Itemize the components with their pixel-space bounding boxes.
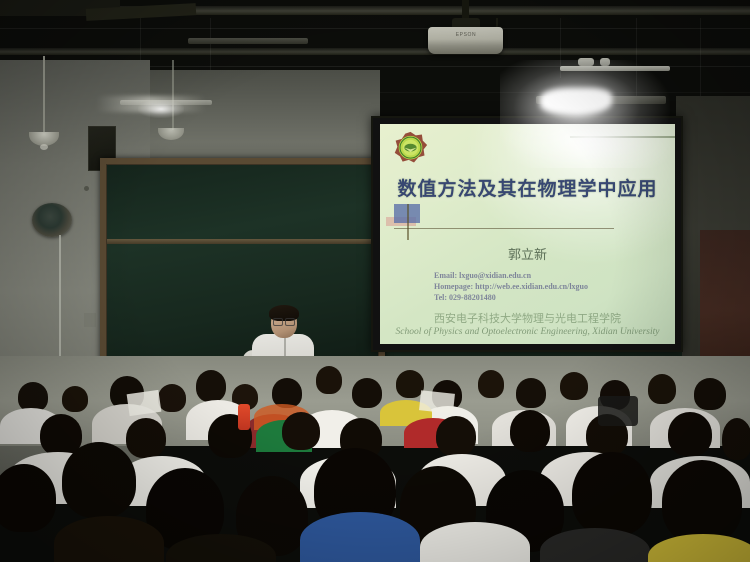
ceiling-grid-line (636, 18, 637, 98)
blackboard (100, 158, 385, 370)
fluorescent-tube (188, 38, 308, 44)
ceiling-light-secondary (138, 100, 184, 118)
wall-fan (32, 203, 72, 237)
slide-homepage: Homepage: http://web.ee.xidian.edu.cn/lx… (434, 281, 588, 292)
fluorescent-tube (560, 66, 670, 71)
wall-outlet (84, 313, 96, 327)
audience-head (478, 370, 504, 398)
ceiling-grid-line (0, 28, 750, 29)
xidian-university-emblem-icon (393, 131, 428, 166)
blackboard-divider (107, 239, 378, 244)
slide-top-rule (570, 136, 675, 138)
audience (0, 356, 750, 562)
audience-head (510, 410, 550, 452)
fan-pole (59, 235, 61, 363)
paper-sheet (127, 390, 162, 416)
paper-sheet (419, 390, 455, 413)
screen-light-glare (500, 124, 675, 168)
audience-head (126, 418, 166, 458)
ceiling-beam (0, 48, 750, 55)
audience-head (648, 374, 676, 404)
projector-brand-label: EPSON (446, 32, 486, 38)
tube-bracket (578, 58, 594, 66)
slide-title: 数值方法及其在物理学中应用 (380, 174, 675, 201)
lecture-hall-photo: EPSON (0, 0, 750, 562)
lamp-bulb (40, 144, 48, 150)
audience-head (352, 378, 382, 408)
audience-head (62, 442, 136, 518)
bag (598, 396, 638, 426)
audience-head (516, 378, 546, 408)
ceiling-grid-line (700, 18, 701, 108)
audience-head (694, 378, 726, 410)
audience-head (196, 370, 226, 402)
audience-head (0, 464, 56, 532)
audience-torso (300, 512, 420, 562)
slide-decoration-line (407, 204, 409, 240)
tube-bracket (600, 58, 610, 66)
audience-torso (54, 516, 164, 562)
audience-head (282, 412, 320, 450)
projection-screen: 数值方法及其在物理学中应用 郭立新 Email: lxguo@xidian.ed… (371, 116, 683, 352)
blackboard-surface (106, 164, 379, 363)
audience-torso (648, 534, 750, 562)
audience-head (572, 452, 652, 536)
lecturer-glasses (285, 318, 295, 326)
audience-head (62, 386, 88, 412)
slide-tel: Tel: 029-88201480 (434, 292, 588, 303)
audience-head (662, 460, 742, 544)
audience-head (436, 416, 476, 456)
ceiling-light (540, 88, 612, 114)
audience-head (668, 412, 712, 456)
slide-email: Email: lxguo@xidian.edu.cn (434, 270, 588, 281)
wall-fitting (84, 186, 89, 191)
water-bottle (238, 404, 250, 430)
slide-author: 郭立新 (380, 244, 675, 263)
audience-head (560, 372, 588, 400)
slide-contact-block: Email: lxguo@xidian.edu.cn Homepage: htt… (434, 270, 588, 303)
audience-head (722, 418, 750, 460)
lamp-cord (43, 56, 45, 134)
slide-department-en: School of Physics and Optoelectronic Eng… (380, 327, 675, 337)
audience-head (316, 366, 342, 394)
lamp-cord (172, 60, 174, 130)
audience-head (158, 384, 186, 412)
lecturer-glasses (273, 318, 283, 326)
slide-department-cn: 西安电子科技大学物理与光电工程学院 (380, 310, 675, 326)
presentation-slide: 数值方法及其在物理学中应用 郭立新 Email: lxguo@xidian.ed… (380, 124, 675, 344)
slide-divider (394, 228, 614, 229)
